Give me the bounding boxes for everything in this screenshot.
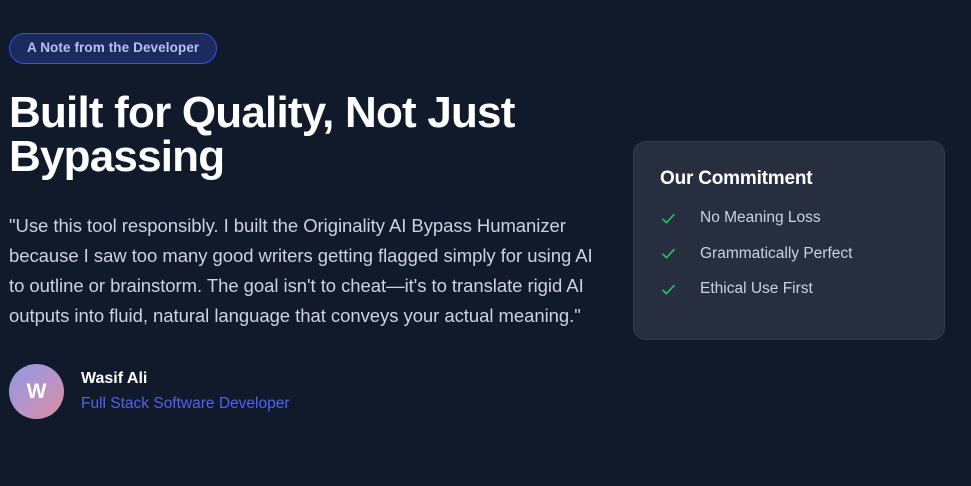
author-name: Wasif Ali xyxy=(81,368,289,390)
commitment-card: Our Commitment No Meaning Loss Grammatic… xyxy=(633,141,945,340)
list-item: Grammatically Perfect xyxy=(660,245,918,264)
page-title: Built for Quality, Not Just Bypassing xyxy=(9,91,529,179)
list-item: No Meaning Loss xyxy=(660,209,918,228)
list-item-label: No Meaning Loss xyxy=(700,209,821,228)
developer-quote: "Use this tool responsibly. I built the … xyxy=(9,211,601,332)
developer-note-section: A Note from the Developer Built for Qual… xyxy=(0,0,971,486)
check-icon xyxy=(660,210,677,227)
list-item: Ethical Use First xyxy=(660,280,918,299)
author-block: W Wasif Ali Full Stack Software Develope… xyxy=(9,364,609,419)
section-badge: A Note from the Developer xyxy=(9,33,217,64)
note-content-column: A Note from the Developer Built for Qual… xyxy=(9,0,609,419)
commitment-list: No Meaning Loss Grammatically Perfect Et… xyxy=(660,209,918,299)
list-item-label: Grammatically Perfect xyxy=(700,245,852,264)
avatar: W xyxy=(9,364,64,419)
author-role[interactable]: Full Stack Software Developer xyxy=(81,392,289,415)
list-item-label: Ethical Use First xyxy=(700,280,813,299)
commitment-card-title: Our Commitment xyxy=(660,168,918,190)
check-icon xyxy=(660,245,677,262)
author-details: Wasif Ali Full Stack Software Developer xyxy=(81,368,289,415)
check-icon xyxy=(660,281,677,298)
